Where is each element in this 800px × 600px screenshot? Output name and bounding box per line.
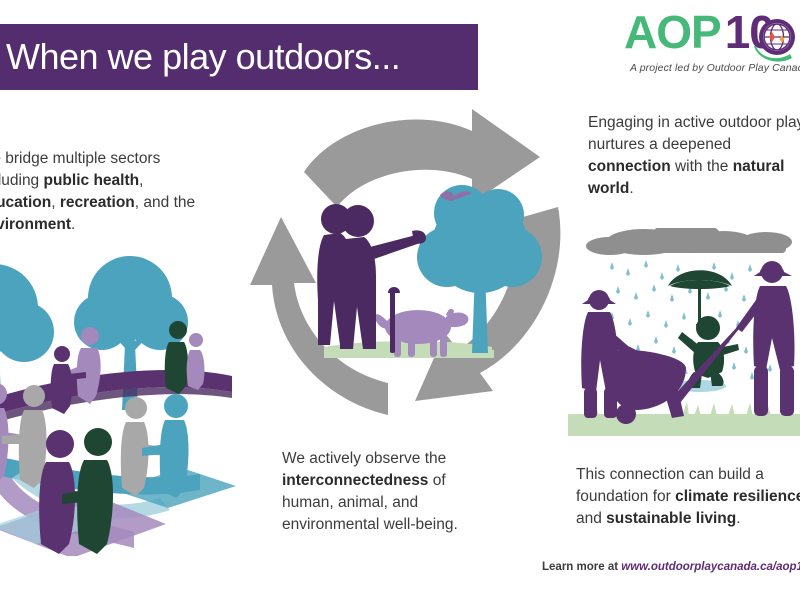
aop-logo[interactable]: AOP 10 A project led by Outdoor Play Can… [624,10,800,84]
para-left-l2b: public health [44,172,140,189]
para-left-l3b: , [51,194,60,211]
cycle-illustration [240,95,570,425]
para-cb-l1: We actively observe the [282,450,446,467]
para-br-l4a: living [696,510,736,527]
learn-more-label: Learn more at [542,561,621,573]
rain-clouds [586,228,792,255]
para-cb-l2: interconnectedness [282,472,428,489]
para-tr-l3b: with the [671,158,729,175]
para-left-l4a: and the [143,194,195,211]
para-left-l3d: , [135,194,139,211]
globe-icon [752,16,798,62]
para-br-l3a: resilience [733,488,800,505]
rain-illustration [566,228,800,450]
paragraph-left: We bridge multiple sectors including pub… [0,148,218,236]
para-cb-l4: environmental well-being. [282,516,458,533]
paragraph-bottom-right: This connection can build a foundation f… [576,464,800,530]
logo-aop-text: AOP [624,10,721,54]
para-left-l4b: environment [0,216,71,233]
para-left-l3c: recreation [60,194,135,211]
para-br-l1: This connection can build [576,466,751,483]
para-tr-l3a: connection [588,158,671,175]
learn-more-footer: Learn more at www.outdoorplaycanada.ca/a… [542,561,800,573]
para-left-l4c: . [71,216,75,233]
bridge-illustration [0,236,264,556]
para-br-l3b: and [576,510,606,527]
para-left-l2c: , [139,172,143,189]
paragraph-top-right: Engaging in active outdoor play nurtures… [588,112,800,200]
para-left-l3a: education [0,194,51,211]
page-title: When we play outdoors... [0,36,400,78]
para-tr-l1: Engaging in active outdoor [588,114,772,131]
outdoor-play-canada-url[interactable]: www.outdoorplaycanada.ca/aop10 [621,561,800,573]
logo-tagline: A project led by Outdoor Play Canada [630,62,800,74]
para-left-l2a: including [0,172,44,189]
para-left-l1: We bridge multiple sectors [0,150,160,167]
para-br-l2b: climate [675,488,728,505]
title-banner: When we play outdoors... [0,24,478,90]
infographic-canvas: When we play outdoors... AOP 10 A projec… [0,0,800,600]
para-br-l3c: sustainable [606,510,691,527]
para-br-l4b: . [736,510,740,527]
para-tr-l4b: . [629,180,633,197]
paragraph-center-bottom: We actively observe the interconnectedne… [282,448,492,536]
